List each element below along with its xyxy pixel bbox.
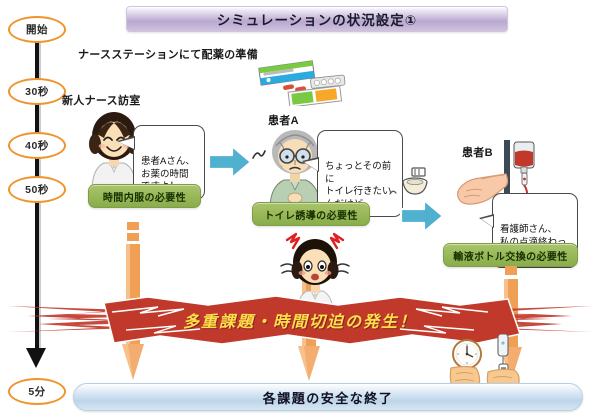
page-title-banner: シミュレーションの状況設定① bbox=[126, 6, 508, 32]
caption-patient-b: 患者B bbox=[462, 144, 493, 160]
medicine-tray-icon bbox=[255, 56, 355, 111]
need-label-toilet-guidance: トイレ誘導の必要性 bbox=[252, 202, 370, 226]
timeline-node-50s: 50秒 bbox=[8, 176, 66, 203]
speech-tail bbox=[479, 214, 494, 228]
teal-block-arrow-icon bbox=[398, 196, 446, 241]
completion-banner: 各課題の安全な終了 bbox=[73, 383, 583, 411]
motion-squiggle-icon bbox=[251, 146, 267, 167]
completion-banner-label: 各課題の安全な終了 bbox=[263, 388, 394, 407]
simulation-scenario-diagram: シミュレーションの状況設定① 開始 30秒 40秒 50秒 5分 ナースステーシ… bbox=[0, 0, 600, 420]
caption-nurse-visit: 新人ナース訪室 bbox=[62, 92, 141, 108]
page-title: シミュレーションの状況設定① bbox=[217, 9, 417, 29]
need-label-medication-timing: 時間内服の必要性 bbox=[88, 184, 201, 208]
speech-tail bbox=[302, 157, 319, 172]
timeline-node-5min: 5分 bbox=[8, 378, 66, 405]
teal-block-arrow-icon bbox=[206, 142, 254, 187]
timeline-node-30s: 30秒 bbox=[8, 78, 66, 105]
need-label-iv-bottle-exchange: 輸液ボトル交換の必要性 bbox=[443, 243, 578, 267]
timeline-node-40s: 40秒 bbox=[8, 132, 66, 159]
timeline-node-start: 開始 bbox=[8, 16, 66, 43]
speech-tail bbox=[117, 136, 135, 150]
caption-nurse-station: ナースステーションにて配薬の準備 bbox=[78, 46, 258, 62]
